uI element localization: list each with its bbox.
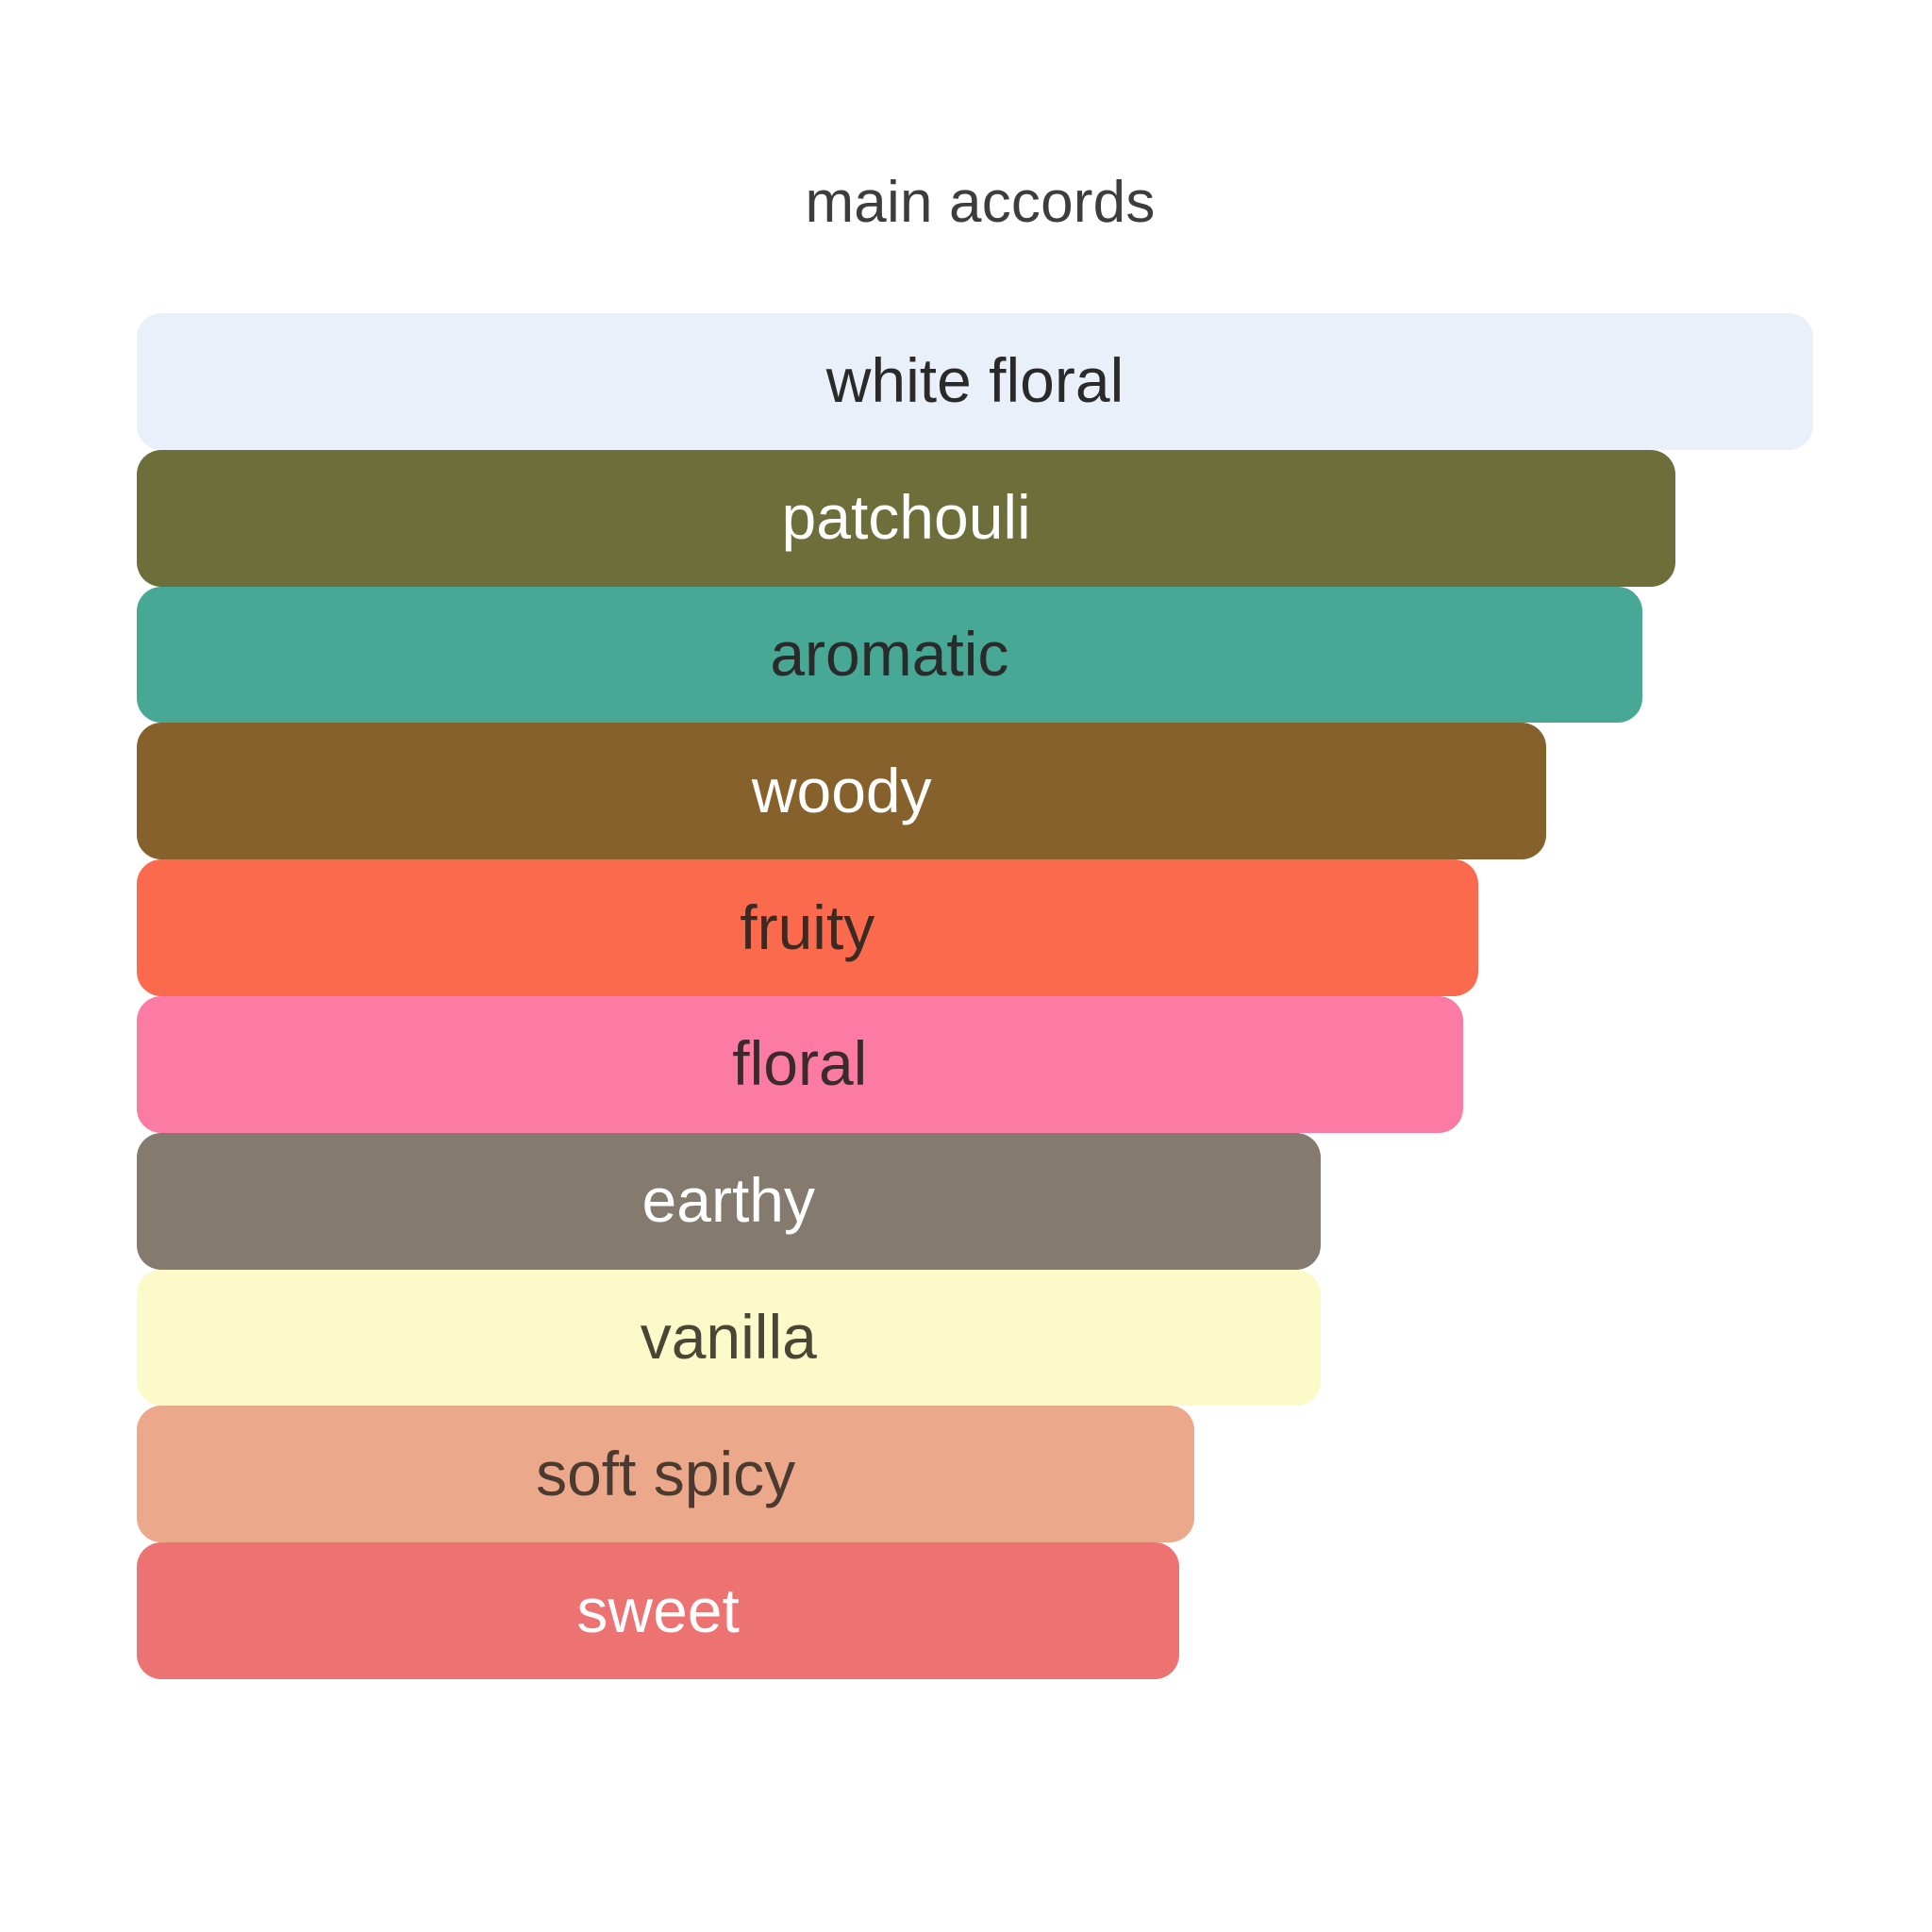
accord-bar[interactable]: soft spicy [137, 1406, 1194, 1542]
accord-bar-row: earthy [137, 1133, 1813, 1270]
accord-bar[interactable]: aromatic [137, 587, 1642, 724]
accord-bar-row: soft spicy [137, 1406, 1813, 1542]
accord-bar-label: woody [752, 759, 932, 822]
main-accords-chart: main accords white floralpatchouliaromat… [0, 0, 1932, 1932]
accord-bar-label: sweet [576, 1579, 739, 1641]
accord-bar-row: aromatic [137, 587, 1813, 724]
accord-bar[interactable]: floral [137, 996, 1463, 1133]
page-title: main accords [0, 174, 1932, 232]
accord-bar-label: earthy [642, 1169, 815, 1231]
accord-bar[interactable]: patchouli [137, 450, 1675, 587]
accord-bar[interactable]: earthy [137, 1133, 1321, 1270]
accord-bar-label: aromatic [770, 623, 1008, 685]
accord-bar-label: patchouli [782, 486, 1031, 548]
accord-bar-list: white floralpatchouliaromaticwoodyfruity… [137, 313, 1813, 1679]
accord-bar-row: patchouli [137, 450, 1813, 587]
accord-bar-label: fruity [740, 896, 874, 958]
accord-bar-label: vanilla [641, 1306, 817, 1368]
accord-bar-row: white floral [137, 313, 1813, 450]
accord-bar-row: floral [137, 996, 1813, 1133]
accord-bar[interactable]: sweet [137, 1542, 1179, 1679]
accord-bar-label: soft spicy [536, 1442, 795, 1505]
accord-bar-row: sweet [137, 1542, 1813, 1679]
accord-bar-row: woody [137, 723, 1813, 859]
accord-bar-row: vanilla [137, 1270, 1813, 1407]
accord-bar[interactable]: woody [137, 723, 1546, 859]
accord-bar[interactable]: fruity [137, 859, 1478, 996]
accord-bar-row: fruity [137, 859, 1813, 996]
accord-bar[interactable]: white floral [137, 313, 1813, 450]
accord-bar-label: floral [732, 1032, 867, 1094]
accord-bar[interactable]: vanilla [137, 1270, 1321, 1407]
accord-bar-label: white floral [826, 349, 1124, 411]
